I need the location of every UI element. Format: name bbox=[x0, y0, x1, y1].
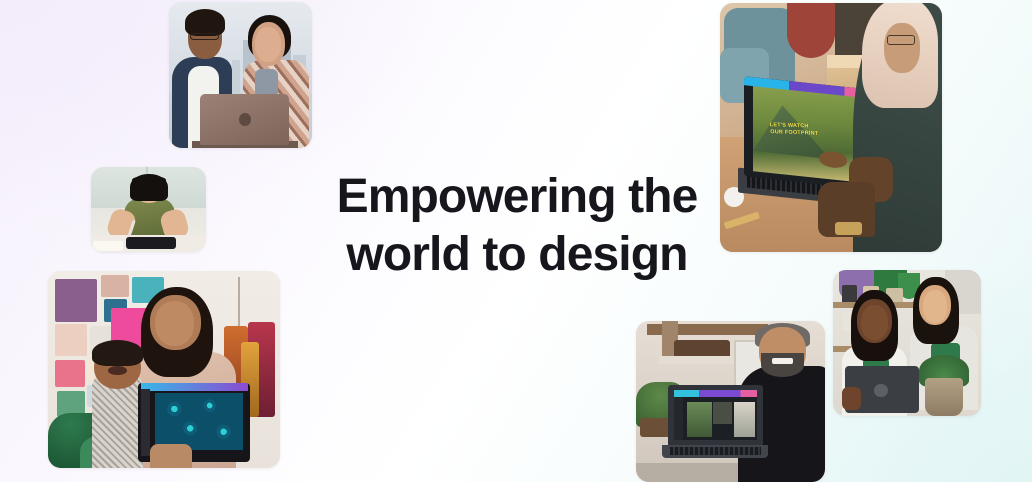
gallery-card-plant-shop-team[interactable] bbox=[833, 270, 981, 416]
gallery-card-collaborating-duo[interactable] bbox=[169, 2, 312, 148]
photo-plant-shop-team bbox=[833, 270, 981, 416]
gallery-card-mother-and-baby[interactable] bbox=[48, 271, 280, 468]
hero-section: Empowering the world to design bbox=[0, 0, 1032, 482]
page-title: Empowering the world to design bbox=[330, 168, 704, 284]
photo-collaborating-duo bbox=[169, 2, 312, 148]
photo-man-with-laptop bbox=[636, 321, 825, 482]
photo-designer-at-desk: LET'S WATCH OUR FOOTPRINT bbox=[720, 3, 942, 252]
headline-line-2: world to design bbox=[330, 226, 704, 284]
gallery-card-man-with-laptop[interactable] bbox=[636, 321, 825, 482]
gallery-card-designer-at-desk[interactable]: LET'S WATCH OUR FOOTPRINT bbox=[720, 3, 942, 252]
photo-tablet-illustrator bbox=[91, 167, 206, 252]
photo-mother-and-baby bbox=[48, 271, 280, 468]
gallery-card-tablet-illustrator[interactable] bbox=[91, 167, 206, 252]
headline-line-1: Empowering the bbox=[330, 168, 704, 226]
laptop-screen-headline: LET'S WATCH OUR FOOTPRINT bbox=[770, 122, 861, 138]
